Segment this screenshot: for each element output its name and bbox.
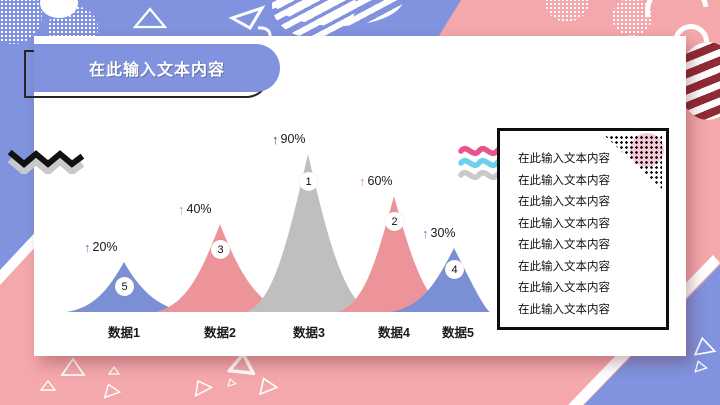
text-line: 在此输入文本内容 — [518, 235, 666, 257]
title-fill-shape: 在此输入文本内容 — [34, 44, 280, 92]
x-axis-label-2: 数据2 — [204, 322, 236, 341]
text-line: 在此输入文本内容 — [518, 149, 666, 171]
triangle-outline-icon — [40, 378, 56, 396]
text-lines-list: 在此输入文本内容 在此输入文本内容 在此输入文本内容 在此输入文本内容 在此输入… — [500, 131, 666, 321]
arrow-up-icon: ↑ — [84, 240, 91, 255]
striped-band-icon — [272, 0, 404, 26]
page-title: 在此输入文本内容 — [89, 56, 225, 80]
value-label-4: ↑60% — [359, 174, 393, 189]
text-line: 在此输入文本内容 — [518, 192, 666, 214]
value-label-3: ↑90% — [272, 132, 306, 147]
text-line: 在此输入文本内容 — [518, 171, 666, 193]
arrow-up-icon: ↑ — [178, 202, 185, 217]
text-line: 在此输入文本内容 — [518, 214, 666, 236]
rank-badge-5: 4 — [445, 260, 464, 279]
title-banner: 在此输入文本内容 — [24, 50, 276, 100]
x-axis-label-5: 数据5 — [442, 322, 474, 341]
rank-badge-3: 1 — [299, 172, 318, 191]
x-axis-label-1: 数据1 — [108, 322, 140, 341]
rank-badge-4: 2 — [385, 212, 404, 231]
mountain-area-chart: ↑20% ↑40% ↑90% ↑60% ↑30% 5 3 1 2 4 数据1 数… — [60, 130, 490, 315]
value-label-5: ↑30% — [422, 226, 456, 241]
value-label-1: ↑20% — [84, 240, 118, 255]
text-line: 在此输入文本内容 — [518, 300, 666, 322]
text-line: 在此输入文本内容 — [518, 257, 666, 279]
triangle-outline-icon — [60, 357, 86, 382]
text-line: 在此输入文本内容 — [518, 278, 666, 300]
arrow-up-icon: ↑ — [359, 174, 366, 189]
text-content-box[interactable]: 在此输入文本内容 在此输入文本内容 在此输入文本内容 在此输入文本内容 在此输入… — [497, 128, 669, 330]
x-axis-label-4: 数据4 — [378, 322, 410, 341]
triangle-outline-icon — [108, 362, 120, 380]
rank-badge-2: 3 — [211, 240, 230, 259]
rank-badge-1: 5 — [115, 277, 134, 296]
value-label-2: ↑40% — [178, 202, 212, 217]
x-axis-label-3: 数据3 — [293, 322, 325, 341]
arrow-up-icon: ↑ — [422, 226, 429, 241]
slide-canvas: 在此输入文本内容 ↑20% ↑40% ↑90 — [0, 0, 720, 405]
arrow-up-icon: ↑ — [272, 132, 279, 147]
triangle-outline-icon — [133, 6, 167, 30]
